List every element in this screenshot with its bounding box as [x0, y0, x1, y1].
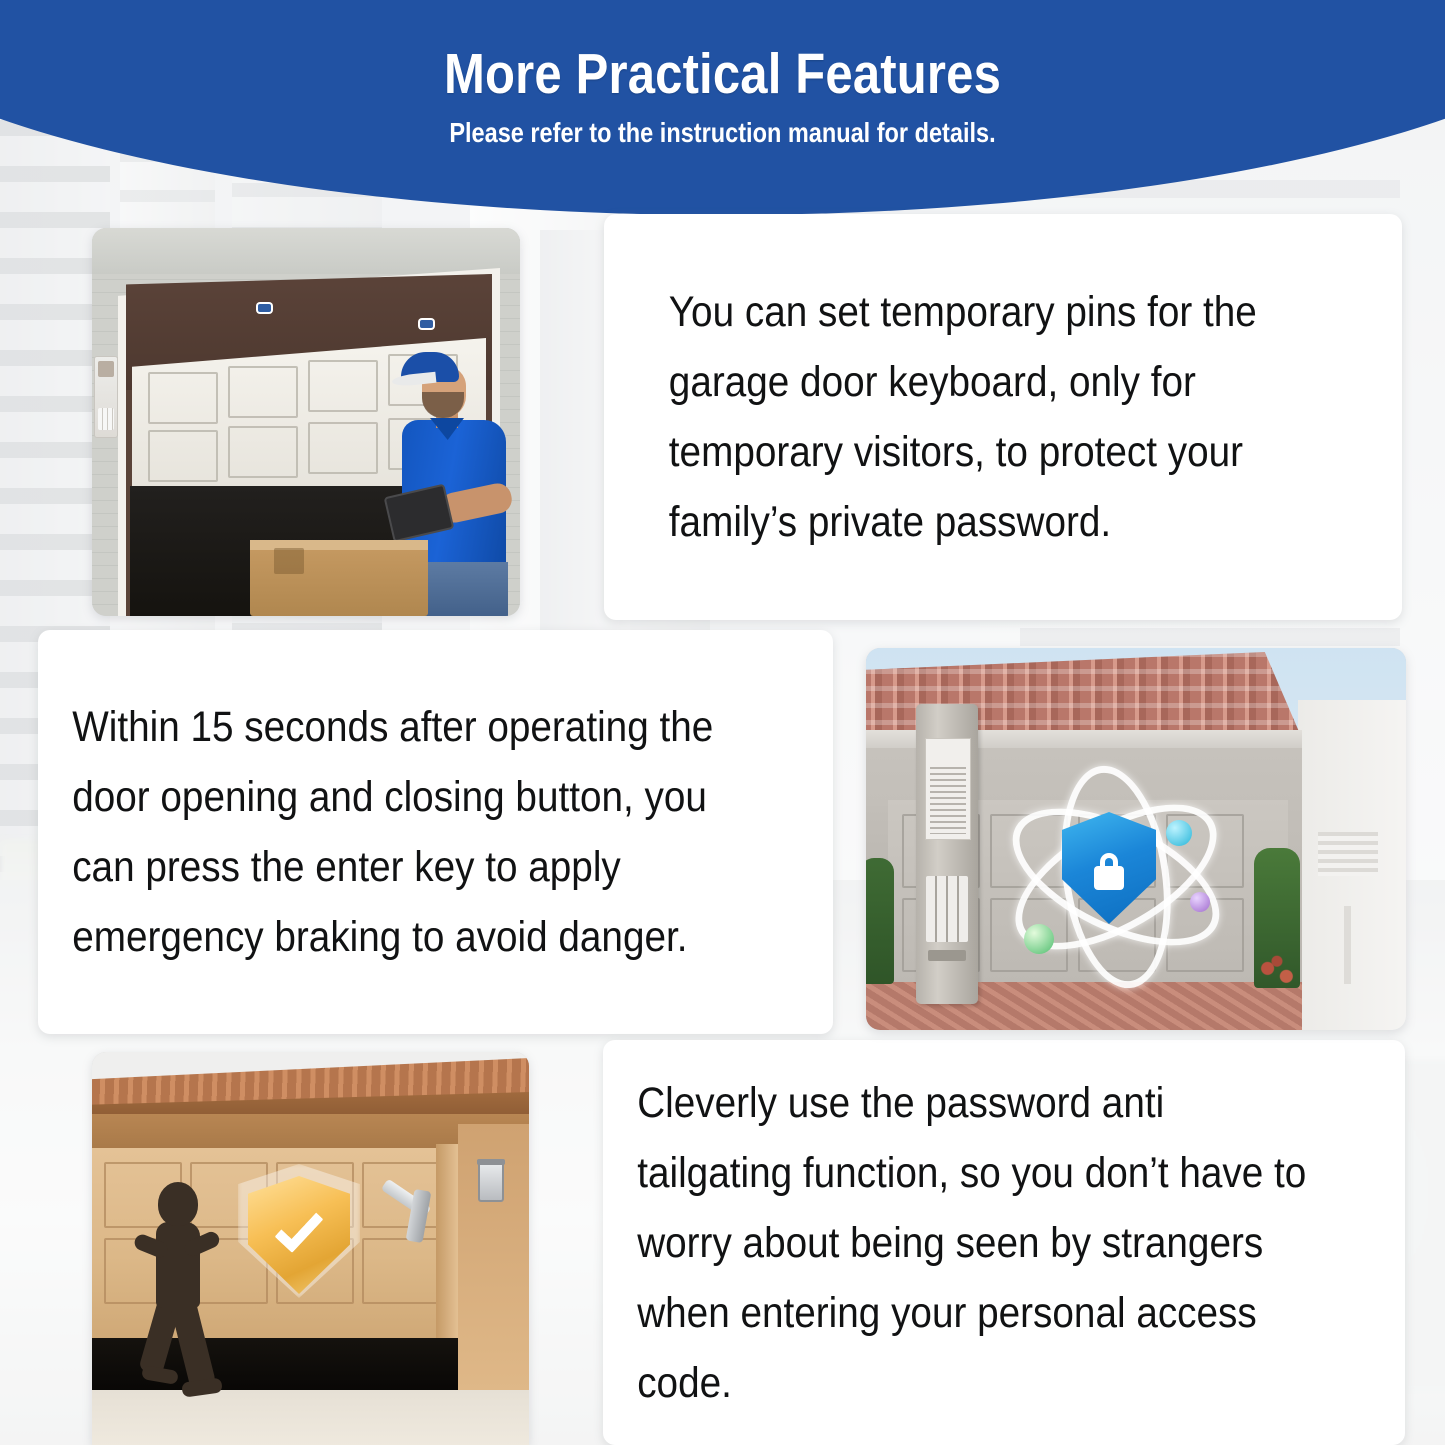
- pillar-card-slot: [928, 950, 966, 961]
- front-foot: [181, 1377, 223, 1397]
- security-atom-graphic: [994, 776, 1224, 964]
- orbit-dot-purple: [1190, 892, 1210, 912]
- feature-text-card-temporary-pins: You can set temporary pins for the garag…: [604, 214, 1402, 620]
- feature-text-temporary-pins: You can set temporary pins for the garag…: [604, 277, 1322, 557]
- page-title: More Practical Features: [101, 0, 1344, 103]
- feature-text-emergency-braking: Within 15 seconds after operating the do…: [38, 692, 754, 972]
- hedge-left: [866, 858, 894, 984]
- jeans: [414, 562, 508, 616]
- feature-photo-emergency-braking: [866, 648, 1406, 1030]
- feature-text-card-anti-tailgating: Cleverly use the password anti tailgatin…: [603, 1040, 1405, 1445]
- page-subtitle: Please refer to the instruction manual f…: [116, 103, 1330, 147]
- flowers: [1252, 954, 1304, 990]
- feature-text-card-emergency-braking: Within 15 seconds after operating the do…: [38, 630, 833, 1034]
- wall-seam: [1344, 906, 1351, 984]
- feature-photo-anti-tailgating: [92, 1052, 529, 1445]
- pillar-keypad-buttons: [926, 876, 968, 942]
- door-panel: [308, 360, 378, 412]
- wall-vent: [1318, 832, 1378, 876]
- back-foot: [141, 1365, 179, 1385]
- page-header: More Practical Features Please refer to …: [0, 0, 1445, 215]
- checkmark-icon: [275, 1203, 324, 1253]
- feature-text-anti-tailgating: Cleverly use the password anti tailgatin…: [603, 1068, 1325, 1418]
- garage-door-opener: [380, 1184, 442, 1250]
- door-sensor-light: [258, 304, 271, 312]
- door-panel: [148, 430, 218, 482]
- door-panel: [148, 372, 218, 424]
- cardboard-box: [250, 540, 428, 616]
- wall-keypad: [94, 356, 118, 438]
- door-panel: [228, 366, 298, 418]
- box-label: [274, 548, 304, 574]
- infographic-canvas: More Practical Features Please refer to …: [0, 0, 1445, 1445]
- door-panel: [308, 422, 378, 474]
- head: [158, 1182, 198, 1226]
- header-text-group: More Practical Features Please refer to …: [0, 0, 1445, 147]
- feature-photo-temporary-pins: [92, 228, 520, 616]
- running-person-shadow: [134, 1182, 254, 1412]
- garage-soffit: [92, 228, 520, 274]
- orbit-dot-green: [1024, 924, 1054, 954]
- padlock-icon: [1094, 866, 1124, 890]
- orbit-dot-cyan: [1166, 820, 1192, 846]
- torso: [156, 1222, 200, 1308]
- door-panel: [228, 426, 298, 478]
- keypad-pillar: [916, 704, 978, 1004]
- pillar-label: [925, 738, 971, 840]
- wall-lamp: [478, 1162, 504, 1202]
- door-sensor-light: [420, 320, 433, 328]
